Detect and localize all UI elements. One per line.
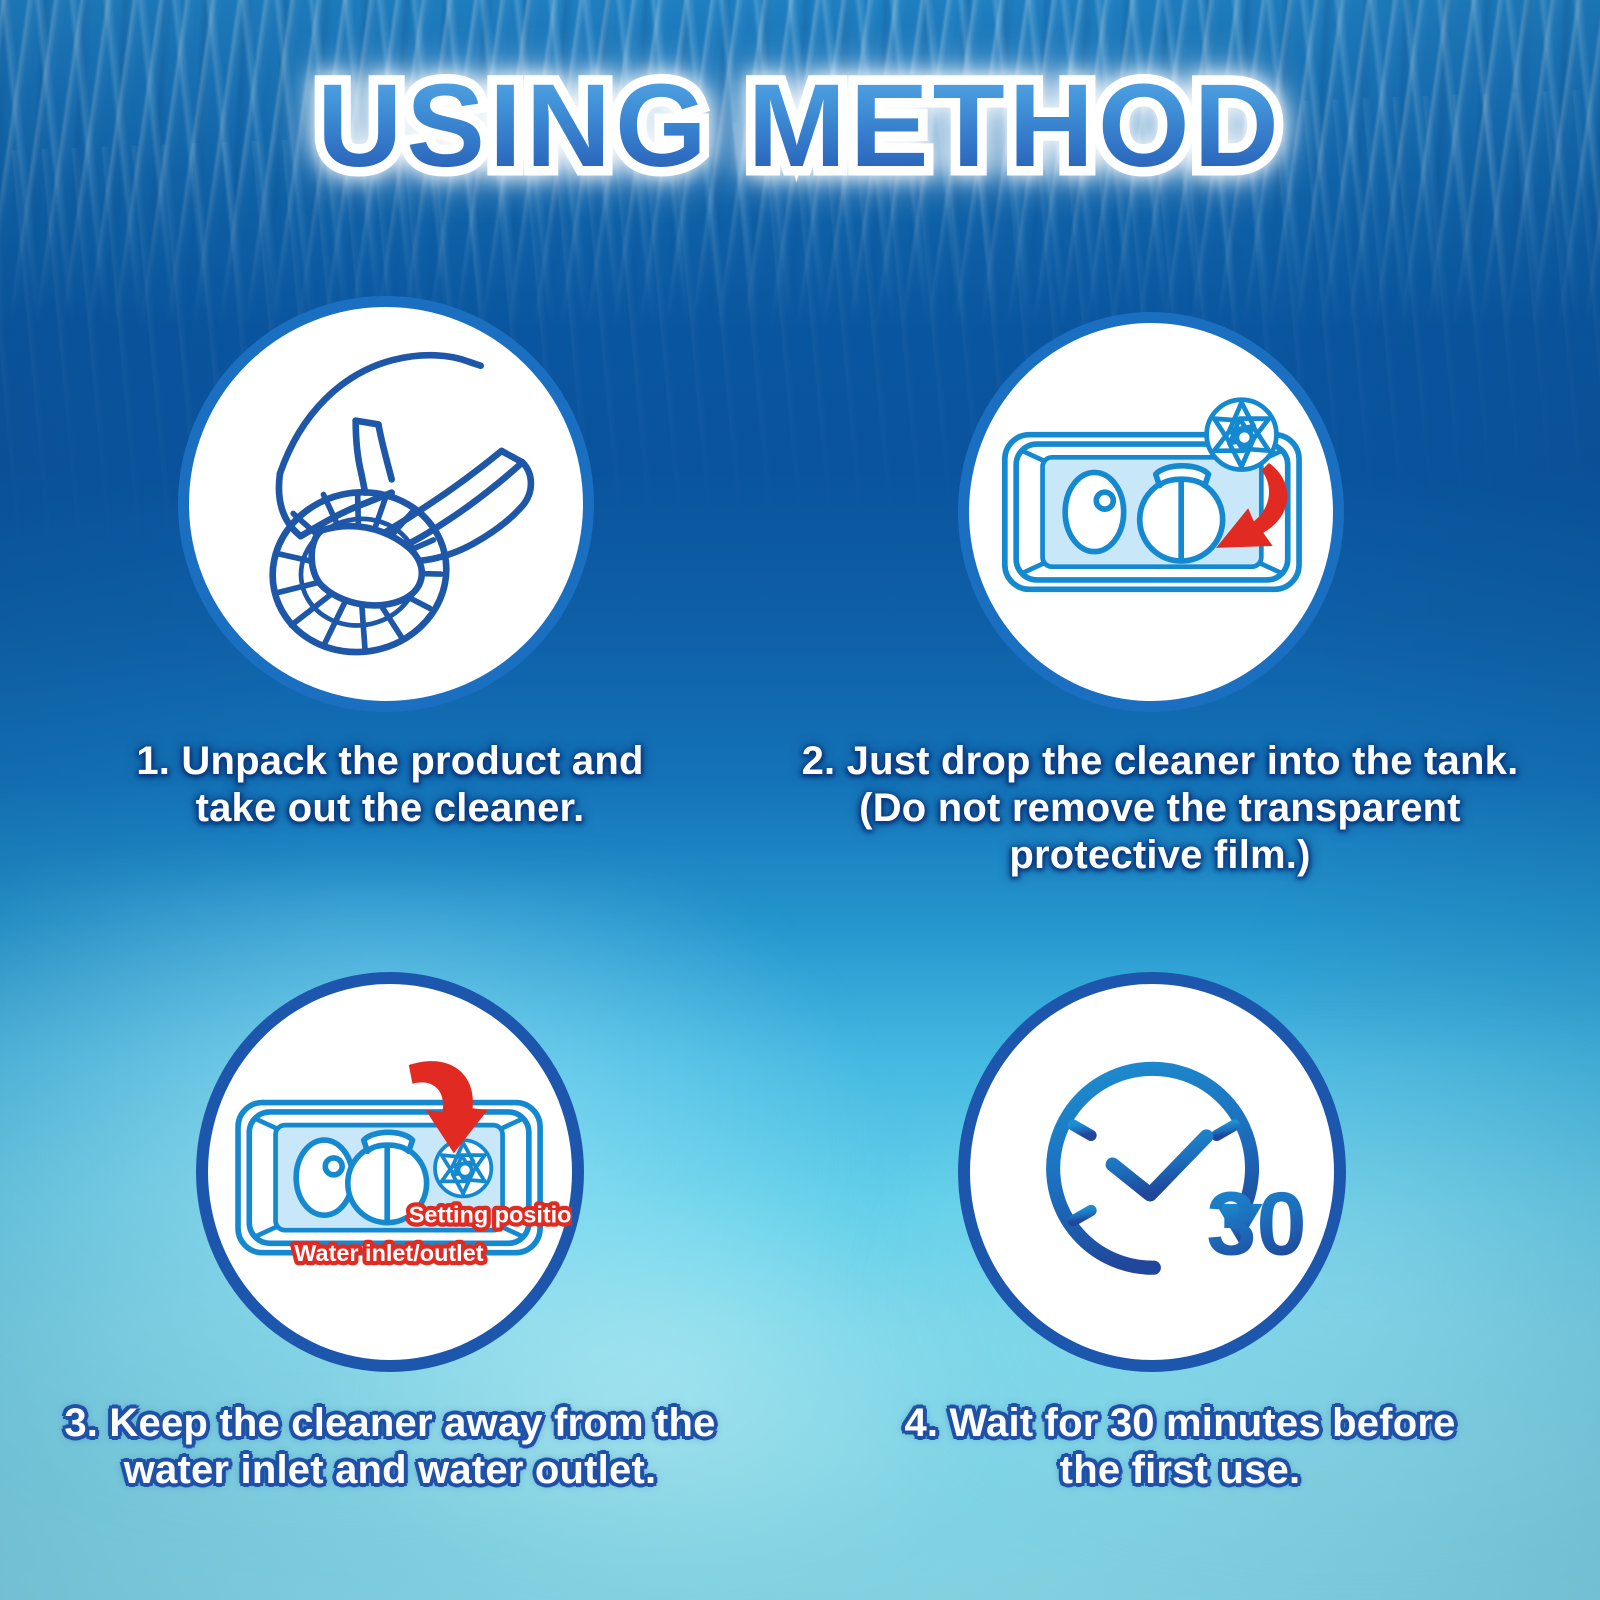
page-title-wrapper: USING METHOD USING METHOD [0,66,1600,196]
step-4-icon-circle: 30 [958,972,1346,1372]
mesh-cleaner-disc [435,1140,491,1196]
step-2-icon-circle [958,312,1344,712]
label-setting-position: Setting position Setting position [409,1202,572,1228]
step-4-caption: 4. Wait for 30 minutes before the first … [830,1400,1530,1494]
clock-hands [1113,1136,1207,1194]
tank-overflow-oval [1065,472,1123,551]
label-water-inlet-outlet-text: Water inlet/outlet [294,1240,483,1266]
step-3-caption: 3. Keep the cleaner away from the water … [20,1400,760,1494]
label-water-inlet-outlet: Water inlet/outlet Water inlet/outlet [294,1240,483,1266]
clock-30-minutes-icon: 30 [970,984,1334,1360]
page-title: USING METHOD USING METHOD [317,66,1283,186]
label-setting-position-text: Setting position [409,1202,572,1228]
hand-holding-mesh-cleaner-icon [189,307,583,701]
page-title-fill: USING METHOD [317,60,1283,192]
step-1-caption: 1. Unpack the product and take out the c… [60,738,720,832]
step-2-caption: 2. Just drop the cleaner into the tank. … [790,738,1530,880]
mesh-cleaner-disc [1207,400,1277,470]
step-1-icon-circle [178,296,594,712]
clock-value-30: 30 [1206,1174,1306,1275]
infographic-poster: USING METHOD USING METHOD [0,0,1600,1600]
toilet-tank-drop-cleaner-icon [969,323,1333,701]
toilet-tank-setting-position-icon: Setting position Setting position Water … [208,984,572,1360]
step-3-icon-circle: Setting position Setting position Water … [196,972,584,1372]
tank-overflow-oval [296,1140,352,1215]
